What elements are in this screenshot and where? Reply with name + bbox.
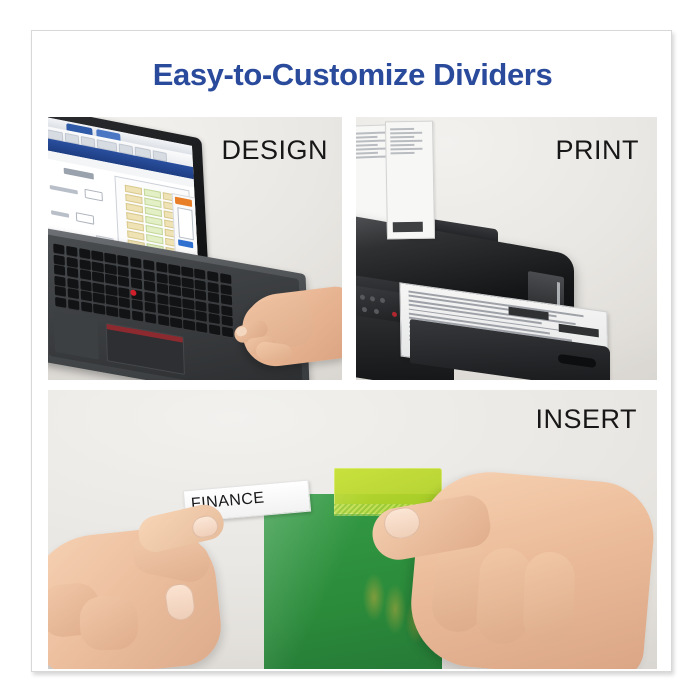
keyboard-key (144, 302, 156, 313)
keyboard-key (183, 309, 195, 320)
keyboard-key (68, 288, 80, 299)
trackpoint-nub[interactable] (130, 289, 136, 296)
keyboard-key (157, 304, 169, 315)
keyboard-key (118, 276, 130, 287)
keyboard-key (105, 274, 117, 285)
panel-design[interactable]: DESIGN (48, 117, 342, 380)
text-line (356, 144, 378, 147)
keyboard-key (170, 317, 182, 328)
keyboard-key (168, 264, 180, 275)
keyboard-key (105, 263, 117, 274)
text-line (390, 148, 422, 150)
panel-label-design: DESIGN (221, 135, 328, 166)
keyboard-key (170, 296, 182, 307)
keyboard-key (66, 256, 78, 267)
keyboard-key (54, 265, 66, 276)
field-input[interactable] (76, 212, 94, 225)
keyboard-key (92, 250, 104, 261)
keyboard-key (117, 255, 129, 266)
keyboard-key (144, 281, 156, 292)
keyboard-key (118, 287, 130, 298)
right-hand (378, 436, 657, 669)
form-row (49, 178, 110, 208)
keyboard-key (93, 282, 105, 293)
keyboard-key (170, 307, 182, 318)
keyboard-key (181, 266, 193, 277)
touchpad[interactable] (106, 323, 185, 375)
tray-handle[interactable] (558, 354, 596, 368)
panel-print[interactable]: PRINT (356, 117, 657, 380)
printer-button[interactable] (374, 309, 379, 315)
left-hand (54, 476, 266, 666)
keyboard-key (55, 297, 67, 308)
product-card: Easy-to-Customize Dividers (31, 30, 672, 672)
text-line (390, 132, 422, 134)
printed-label-block (393, 222, 423, 233)
keyboard-key (156, 262, 168, 273)
printer-button[interactable] (360, 294, 365, 300)
keyboard-key (194, 279, 206, 290)
text-line (391, 152, 415, 154)
printer-button[interactable] (380, 298, 385, 304)
keyboard-key (81, 301, 93, 312)
text-line (390, 128, 414, 130)
keyboard-key (93, 304, 105, 315)
keyboard-key (196, 322, 208, 333)
keyboard-key (80, 291, 92, 302)
keyboard-key (106, 285, 118, 296)
keyboard-key (143, 259, 155, 270)
keyboard-key (79, 248, 91, 259)
keyboard-key (145, 313, 157, 324)
keyboard-key (79, 259, 91, 270)
keyboard-key (67, 267, 79, 278)
keyboard-key (183, 319, 195, 330)
hand-finger (522, 551, 575, 645)
keyboard-key (55, 286, 67, 297)
keyboard-key (119, 308, 131, 319)
keyboard-key (195, 290, 207, 301)
side-action-button[interactable] (178, 239, 193, 248)
panel-label-insert: INSERT (535, 404, 637, 435)
keyboard-key (144, 291, 156, 302)
keyboard-key (68, 299, 80, 310)
field-label (50, 185, 78, 195)
power-button[interactable] (392, 311, 397, 317)
feed-sheet (385, 121, 435, 240)
text-line (390, 136, 414, 138)
sheet-printed-lines (390, 128, 430, 219)
keyboard-key (207, 271, 219, 282)
keyboard-key (118, 266, 130, 277)
keyboard-key (130, 268, 142, 279)
keyboard-key (143, 270, 155, 281)
keyboard-key (156, 272, 168, 283)
panel-insert[interactable]: FINANCE (48, 390, 657, 669)
keyboard-key (182, 288, 194, 299)
printer-button[interactable] (370, 296, 375, 302)
form-row (51, 203, 112, 233)
text-line (356, 131, 389, 134)
keyboard-key (53, 244, 65, 255)
keyboard-key (93, 293, 105, 304)
panel-label-print: PRINT (556, 135, 640, 166)
field-label (51, 210, 69, 218)
palm-rest (54, 312, 99, 360)
keyboard-key (80, 280, 92, 291)
text-line (356, 152, 378, 155)
keyboard-key (132, 310, 144, 321)
keyboard-key (54, 254, 66, 265)
keyboard-key (54, 275, 66, 286)
keyboard-key (131, 278, 143, 289)
keyboard-key (106, 295, 118, 306)
keyboard-key (104, 253, 116, 264)
keyboard-key (182, 298, 194, 309)
keyboard-key (92, 272, 104, 283)
page-root: Easy-to-Customize Dividers (0, 0, 700, 700)
keyboard-key (195, 300, 207, 311)
keyboard-key (132, 300, 144, 311)
keyboard-key (169, 275, 181, 286)
keyboard-key (67, 278, 79, 289)
tool-side-panel (172, 193, 199, 258)
keyboard-key (158, 315, 170, 326)
text-line (390, 140, 422, 142)
form-heading (64, 168, 94, 180)
keyboard-key (92, 261, 104, 272)
keyboard-key (196, 311, 208, 322)
touchpad-buttons[interactable] (107, 324, 183, 343)
keyboard-key (194, 269, 206, 280)
preview-frame (177, 207, 194, 240)
page-title: Easy-to-Customize Dividers (32, 57, 673, 93)
keyboard-key (182, 277, 194, 288)
text-line (390, 144, 414, 146)
text-line (356, 136, 378, 139)
keyboard-key (119, 297, 131, 308)
accent-swatch (175, 197, 192, 207)
hand-on-keyboard (212, 283, 342, 380)
keyboard-key (106, 306, 118, 317)
keyboard-key (66, 246, 78, 257)
text-line (356, 139, 389, 142)
field-input[interactable] (85, 189, 103, 202)
keyboard-key (130, 257, 142, 268)
hand-knuckle (79, 595, 139, 651)
printer-image (356, 137, 644, 380)
keyboard-key (156, 283, 168, 294)
keyboard-key (169, 285, 181, 296)
keyboard-key (157, 294, 169, 305)
printer-button[interactable] (362, 307, 367, 313)
keyboard-key (80, 269, 92, 280)
